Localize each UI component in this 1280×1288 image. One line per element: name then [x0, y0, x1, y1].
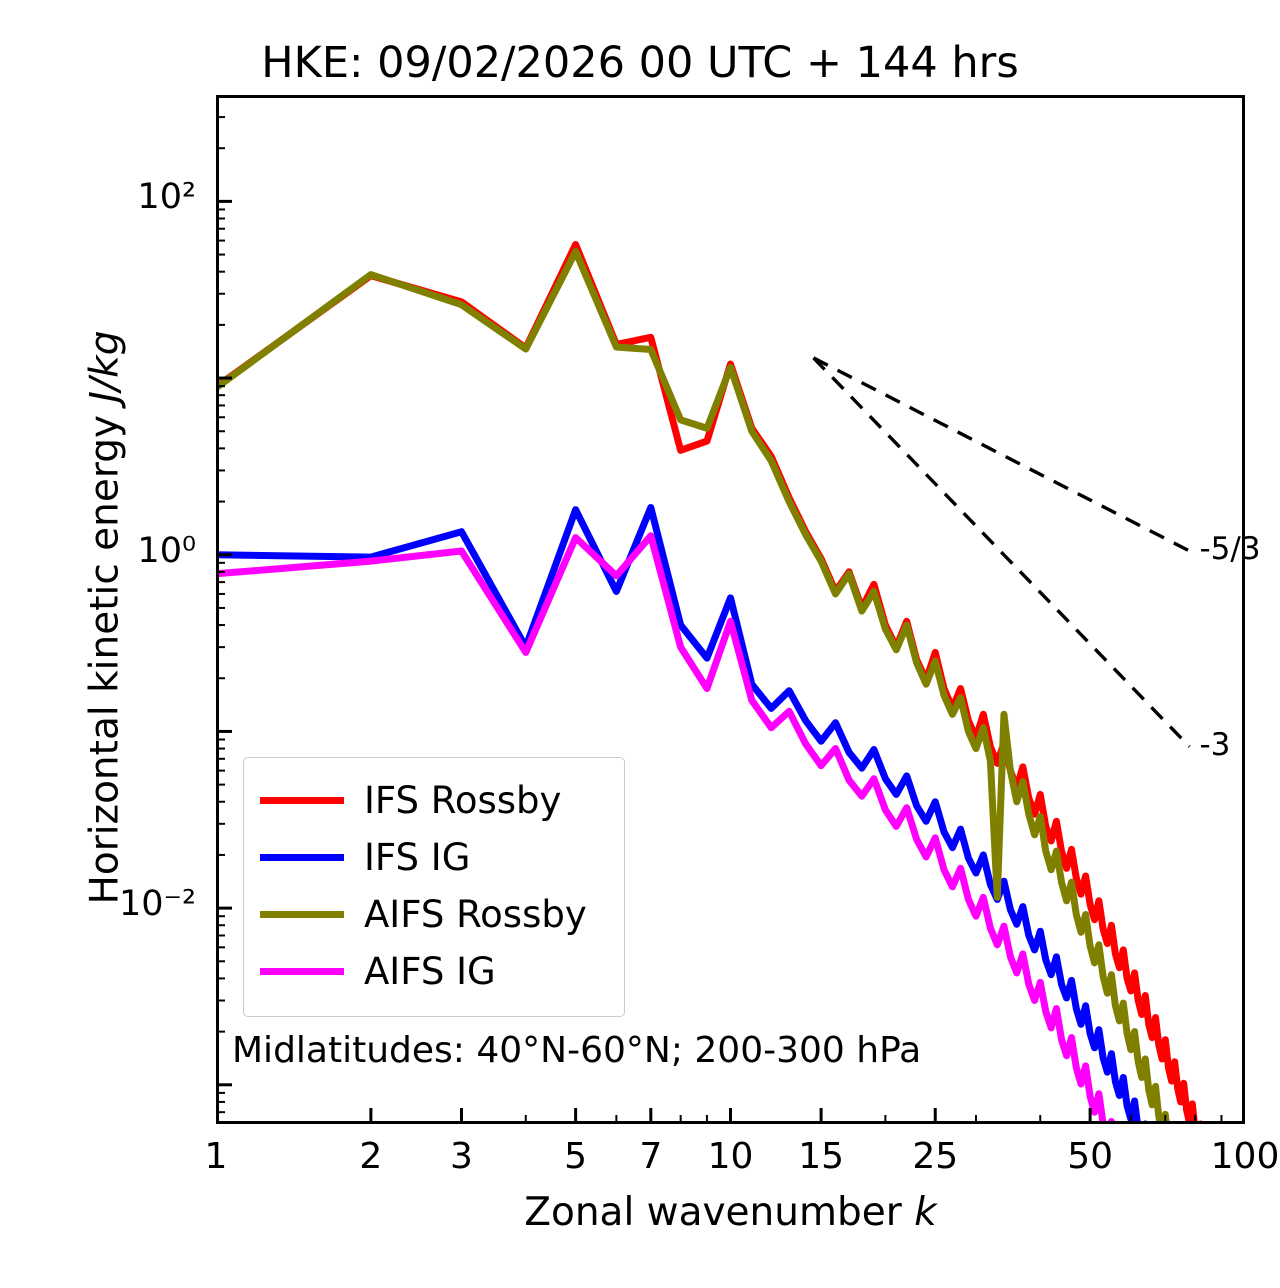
- legend-label-2: AIFS Rossby: [364, 896, 587, 933]
- legend-label-1: IFS IG: [364, 839, 470, 876]
- legend-label-3: AIFS IG: [364, 953, 496, 990]
- x-tick-label-2: 2: [359, 1136, 382, 1177]
- x-tick-label-1: 1: [205, 1136, 228, 1177]
- x-tick-label-7: 7: [639, 1136, 662, 1177]
- y-axis-label-units: J/kg: [83, 331, 128, 403]
- y-axis-label: Horizontal kinetic energy J/kg: [83, 168, 128, 1068]
- x-tick-label-3: 3: [450, 1136, 473, 1177]
- reference-lines-group: [814, 358, 1190, 747]
- x-tick-label-5: 5: [564, 1136, 587, 1177]
- reference-line--3: [814, 358, 1190, 747]
- region-annotation: Midlatitudes: 40°N-60°N; 200-300 hPa: [232, 1030, 921, 1071]
- reference-line--5-3: [814, 358, 1190, 551]
- slope-label--5-3: -5/3: [1199, 531, 1260, 567]
- x-tick-label-15: 15: [798, 1136, 844, 1177]
- legend-swatch-3: [260, 968, 344, 975]
- x-tick-label-10: 10: [708, 1136, 754, 1177]
- legend-swatch-2: [260, 911, 344, 918]
- slope-label--3: -3: [1199, 727, 1230, 763]
- legend-swatch-1: [260, 854, 344, 861]
- legend-item-aifs-ig[interactable]: AIFS IG: [260, 943, 608, 1000]
- x-axis-label-symbol: k: [914, 1190, 937, 1235]
- y-tick-label-2: 10²: [0, 177, 210, 217]
- y-tick-label-1: 10⁰: [0, 531, 210, 571]
- legend-label-0: IFS Rossby: [364, 782, 561, 819]
- legend-item-aifs-rossby[interactable]: AIFS Rossby: [260, 886, 608, 943]
- legend-item-ifs-rossby[interactable]: IFS Rossby: [260, 772, 608, 829]
- page-title: HKE: 09/02/2026 00 UTC + 144 hrs: [0, 38, 1280, 88]
- y-axis-label-text: Horizontal kinetic energy: [83, 403, 128, 905]
- y-tick-label-0: 10⁻²: [0, 884, 210, 924]
- chart-legend: IFS RossbyIFS IGAIFS RossbyAIFS IG: [243, 757, 625, 1017]
- chart-figure: HKE: 09/02/2026 00 UTC + 144 hrs Horizon…: [0, 0, 1280, 1288]
- legend-item-ifs-ig[interactable]: IFS IG: [260, 829, 608, 886]
- legend-swatch-0: [260, 797, 344, 804]
- x-tick-label-25: 25: [912, 1136, 958, 1177]
- x-axis-label: Zonal wavenumber k: [216, 1190, 1245, 1235]
- x-tick-label-50: 50: [1067, 1136, 1113, 1177]
- x-axis-label-text: Zonal wavenumber: [524, 1190, 914, 1235]
- x-tick-label-100: 100: [1211, 1136, 1280, 1177]
